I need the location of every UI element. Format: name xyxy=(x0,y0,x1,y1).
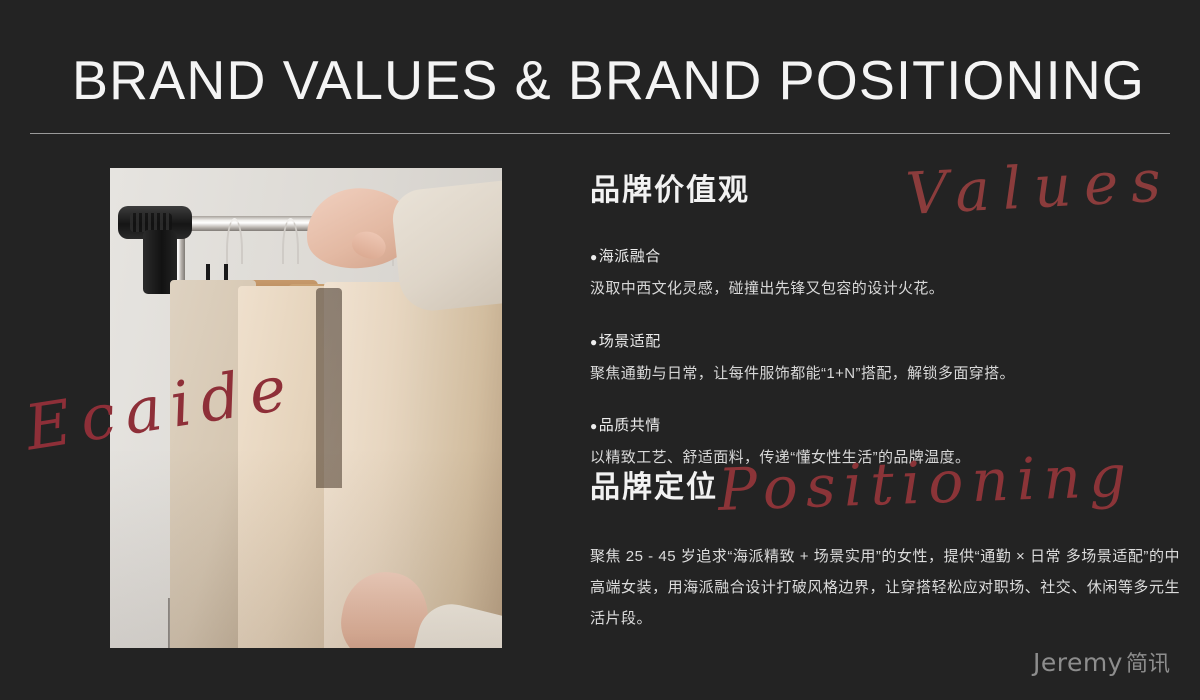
brand-values-list: ●海派融合 汲取中西文化灵感，碰撞出先锋又包容的设计火花。 ●场景适配 聚焦通勤… xyxy=(590,245,1020,470)
header-divider xyxy=(30,133,1170,134)
value-item: ●海派融合 汲取中西文化灵感，碰撞出先锋又包容的设计火花。 xyxy=(590,245,1020,301)
brand-values-heading: 品牌价值观 xyxy=(590,165,750,209)
footer-watermark: Jeremy 简讯 xyxy=(1033,646,1170,678)
value-item-title: ●品质共情 xyxy=(590,414,1020,435)
bullet-dot-icon: ● xyxy=(590,335,598,349)
brand-positioning-body: 聚焦 25 - 45 岁追求“海派精致 + 场景实用”的女性，提供“通勤 × 日… xyxy=(590,542,1180,634)
page-title: BRAND VALUES & BRAND POSITIONING xyxy=(72,48,1145,112)
value-item-title-text: 品质共情 xyxy=(599,417,661,434)
value-item-title-text: 海派融合 xyxy=(599,248,661,265)
value-item-title: ●海派融合 xyxy=(590,245,1020,266)
value-item: ●场景适配 聚焦通勤与日常，让每件服饰都能“1+N”搭配，解锁多面穿搭。 xyxy=(590,330,1020,386)
script-accent-values: Values xyxy=(904,146,1175,228)
slide-root: BRAND VALUES & BRAND POSITIONING xyxy=(0,0,1200,700)
script-accent-positioning: Positioning xyxy=(717,441,1136,523)
value-item-title-text: 场景适配 xyxy=(599,333,661,350)
watermark-name: Jeremy xyxy=(1033,648,1123,677)
brand-positioning-heading: 品牌定位 xyxy=(590,462,718,506)
watermark-cjk: 简讯 xyxy=(1126,646,1170,678)
value-item-title: ●场景适配 xyxy=(590,330,1020,351)
bullet-dot-icon: ● xyxy=(590,250,598,264)
value-item-desc: 汲取中西文化灵感，碰撞出先锋又包容的设计火花。 xyxy=(590,278,1020,301)
bullet-dot-icon: ● xyxy=(590,419,598,433)
value-item-desc: 聚焦通勤与日常，让每件服饰都能“1+N”搭配，解锁多面穿搭。 xyxy=(590,363,1020,386)
